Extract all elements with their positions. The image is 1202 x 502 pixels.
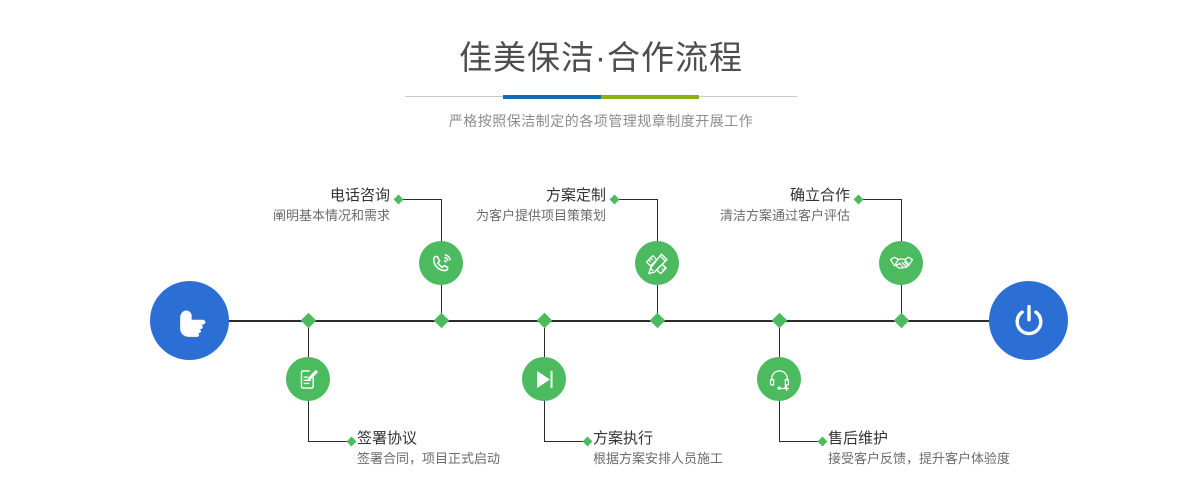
step-node-2[interactable] <box>286 357 330 401</box>
timeline-start-badge <box>150 281 229 360</box>
elbow-v-step2 <box>308 400 309 442</box>
label-diamond-step5 <box>854 195 864 205</box>
page-title: 佳美保洁·合作流程 <box>0 38 1202 78</box>
step-subtitle-2: 签署合同，项目正式启动 <box>357 449 587 468</box>
step-title-1: 电话咨询 <box>195 186 390 206</box>
elbow-h-step3 <box>614 199 658 200</box>
step-node-3[interactable] <box>635 241 679 285</box>
step-title-2: 签署协议 <box>357 429 587 449</box>
axis-diamond-6 <box>894 313 910 329</box>
step-label-3: 方案定制 为客户提供项目策策划 <box>411 186 606 225</box>
handshake-icon <box>889 251 914 276</box>
step-label-6: 售后维护 接受客户反馈，提升客户体验度 <box>828 429 1088 468</box>
document-edit-icon <box>296 367 321 392</box>
elbow-v-step5 <box>901 199 902 243</box>
play-skip-icon <box>532 367 557 392</box>
process-flow-infographic: 佳美保洁·合作流程 严格按照保洁制定的各项管理规章制度开展工作 <box>0 0 1202 502</box>
elbow-h-step5 <box>858 199 902 200</box>
headset-support-icon <box>767 367 792 392</box>
step-label-5: 确立合作 清洁方案通过客户评估 <box>655 186 850 225</box>
step-label-2: 签署协议 签署合同，项目正式启动 <box>357 429 587 468</box>
pencil-ruler-icon <box>645 251 670 276</box>
page-subtitle: 严格按照保洁制定的各项管理规章制度开展工作 <box>0 111 1202 131</box>
step-node-1[interactable] <box>419 241 463 285</box>
step-title-6: 售后维护 <box>828 429 1088 449</box>
step-title-5: 确立合作 <box>655 186 850 206</box>
step-label-4: 方案执行 根据方案安排人员施工 <box>593 429 823 468</box>
step-subtitle-5: 清洁方案通过客户评估 <box>655 206 850 225</box>
step-title-4: 方案执行 <box>593 429 823 449</box>
power-icon <box>1008 300 1050 342</box>
label-diamond-step2 <box>347 437 357 447</box>
timeline-end-badge <box>989 281 1068 360</box>
axis-diamond-4 <box>650 313 666 329</box>
label-diamond-step1 <box>394 195 404 205</box>
step-node-6[interactable] <box>757 357 801 401</box>
divider-segment-blue <box>503 95 601 99</box>
title-divider <box>405 96 797 97</box>
step-subtitle-6: 接受客户反馈，提升客户体验度 <box>828 449 1088 468</box>
axis-diamond-2 <box>434 313 450 329</box>
label-diamond-step3 <box>610 195 620 205</box>
step-subtitle-4: 根据方案安排人员施工 <box>593 449 823 468</box>
axis-diamond-3 <box>537 313 553 329</box>
hand-pointer-icon <box>169 300 211 342</box>
phone-call-icon <box>429 251 454 276</box>
step-subtitle-3: 为客户提供项目策策划 <box>411 206 606 225</box>
step-node-5[interactable] <box>879 241 923 285</box>
divider-segment-green <box>601 95 699 99</box>
axis-diamond-1 <box>301 313 317 329</box>
step-label-1: 电话咨询 阐明基本情况和需求 <box>195 186 390 225</box>
step-node-4[interactable] <box>522 357 566 401</box>
step-subtitle-1: 阐明基本情况和需求 <box>195 206 390 225</box>
step-title-3: 方案定制 <box>411 186 606 206</box>
axis-diamond-5 <box>772 313 788 329</box>
header: 佳美保洁·合作流程 严格按照保洁制定的各项管理规章制度开展工作 <box>0 0 1202 131</box>
